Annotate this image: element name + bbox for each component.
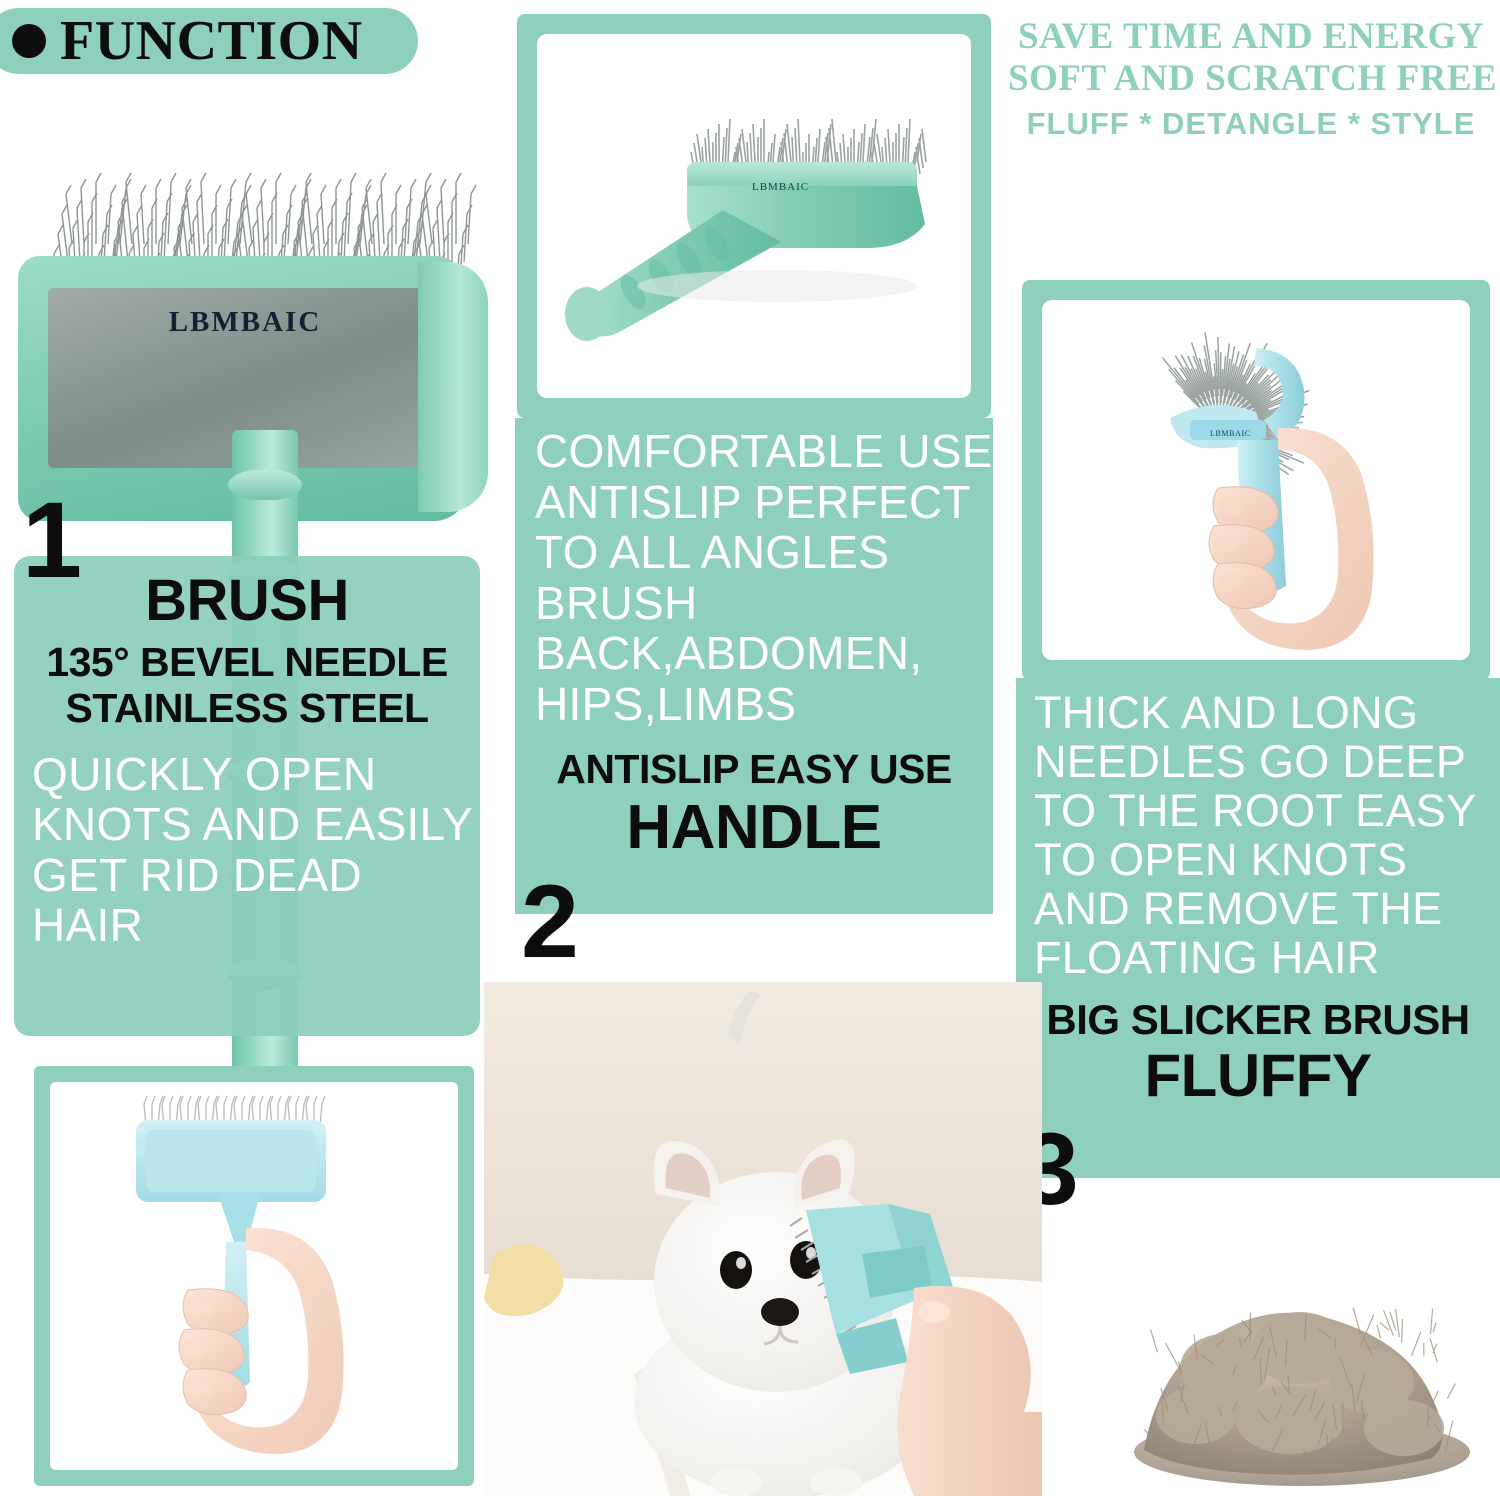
brand-logo-on-brush: LBMBAIC bbox=[120, 306, 370, 339]
feature-3-title: FLUFFY bbox=[1016, 1046, 1500, 1106]
photo-hair-pile bbox=[1104, 1190, 1500, 1496]
feature-panel-handle: COMFORTABLE USE ANTISLIP PERFECT TO ALL … bbox=[515, 418, 993, 914]
feature-3-body: THICK AND LONG NEEDLES GO DEEP TO THE RO… bbox=[1016, 678, 1500, 982]
photo-frame-hand-brush: LBMBAIC bbox=[1022, 280, 1490, 680]
brush-head-lip bbox=[418, 262, 488, 512]
angled-brush-illustration: LBMBAIC bbox=[537, 34, 971, 398]
dog-illustration bbox=[484, 982, 1042, 1496]
feature-3-subtitle: BIG SLICKER BRUSH bbox=[1016, 996, 1500, 1044]
feature-panel-fluffy: THICK AND LONG NEEDLES GO DEEP TO THE RO… bbox=[1016, 678, 1500, 1178]
handle-ring bbox=[228, 470, 302, 500]
feature-1-title: BRUSH bbox=[14, 572, 480, 630]
grip-illustration bbox=[50, 1082, 458, 1470]
photo-frame-grip bbox=[34, 1066, 474, 1486]
feature-1-subtitle-line-2: STAINLESS STEEL bbox=[14, 686, 480, 730]
photo-angled-brush: LBMBAIC bbox=[537, 34, 971, 398]
feature-1-body: QUICKLY OPEN KNOTS AND EASILY GET RID DE… bbox=[14, 749, 480, 951]
function-badge-label: FUNCTION bbox=[60, 13, 363, 69]
feature-2-subtitle: ANTISLIP EASY USE bbox=[515, 746, 993, 793]
function-badge: FUNCTION bbox=[0, 8, 418, 74]
svg-text:LBMBAIC: LBMBAIC bbox=[1210, 429, 1251, 438]
feature-panel-brush: BRUSH 135° BEVEL NEEDLE STAINLESS STEEL … bbox=[14, 556, 480, 1036]
hair-pile-illustration bbox=[1104, 1190, 1500, 1496]
bullet-dot-icon bbox=[12, 24, 46, 58]
feature-1-subtitle-line-1: 135° BEVEL NEEDLE bbox=[14, 640, 480, 684]
slogan-line-3: FLUFF * DETANGLE * STYLE bbox=[1008, 104, 1494, 144]
svg-text:LBMBAIC: LBMBAIC bbox=[752, 181, 809, 193]
feature-2-number: 2 bbox=[521, 880, 579, 965]
slogan-block: SAVE TIME AND ENERGY SOFT AND SCRATCH FR… bbox=[1008, 16, 1494, 145]
photo-dog-being-brushed bbox=[484, 982, 1042, 1496]
feature-1-number: 1 bbox=[22, 496, 82, 585]
photo-frame-angled-brush: LBMBAIC bbox=[517, 14, 991, 418]
photo-hand-grip-brush bbox=[50, 1082, 458, 1470]
slogan-line-1: SAVE TIME AND ENERGY bbox=[1008, 16, 1494, 58]
slogan-line-2: SOFT AND SCRATCH FREE bbox=[1008, 58, 1494, 100]
hand-brush-illustration: LBMBAIC bbox=[1042, 300, 1470, 660]
feature-2-title: HANDLE bbox=[515, 797, 993, 859]
feature-2-body: COMFORTABLE USE ANTISLIP PERFECT TO ALL … bbox=[515, 418, 993, 730]
photo-hand-holding-brush: LBMBAIC bbox=[1042, 300, 1470, 660]
